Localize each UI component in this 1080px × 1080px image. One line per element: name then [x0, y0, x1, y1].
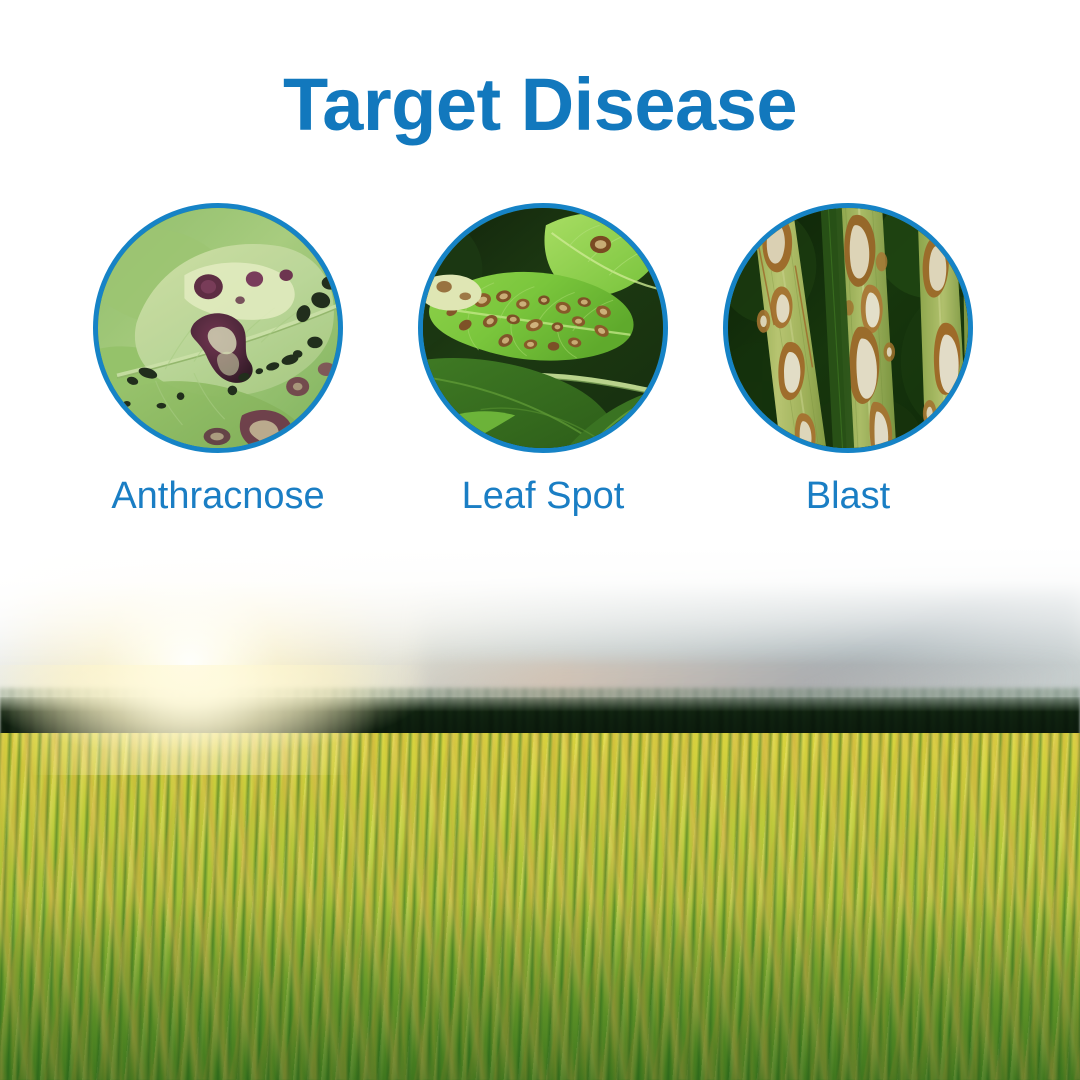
disease-card-anthracnose[interactable]: Anthracnose: [93, 203, 343, 518]
disease-image-circle-leaf-spot: [418, 203, 668, 453]
poster-canvas: Target Disease: [0, 0, 1080, 1080]
leaf-spot-photo: [423, 208, 663, 448]
rice-field-shadow: [0, 900, 1080, 1080]
disease-label-anthracnose: Anthracnose: [93, 475, 343, 518]
disease-image-circle-blast: [723, 203, 973, 453]
disease-image-circle-anthracnose: [93, 203, 343, 453]
blast-rice-leaf-photo: [728, 208, 968, 448]
rice-paddy-sunrise-photo: [0, 545, 1080, 1080]
disease-label-leaf-spot: Leaf Spot: [418, 475, 668, 518]
disease-card-leaf-spot[interactable]: Leaf Spot: [418, 203, 668, 518]
anthracnose-leaf-photo: [98, 208, 338, 448]
disease-card-blast[interactable]: Blast: [723, 203, 973, 518]
page-title: Target Disease: [0, 66, 1080, 144]
disease-card-row: Anthracnose: [0, 203, 1080, 533]
disease-label-blast: Blast: [723, 475, 973, 518]
